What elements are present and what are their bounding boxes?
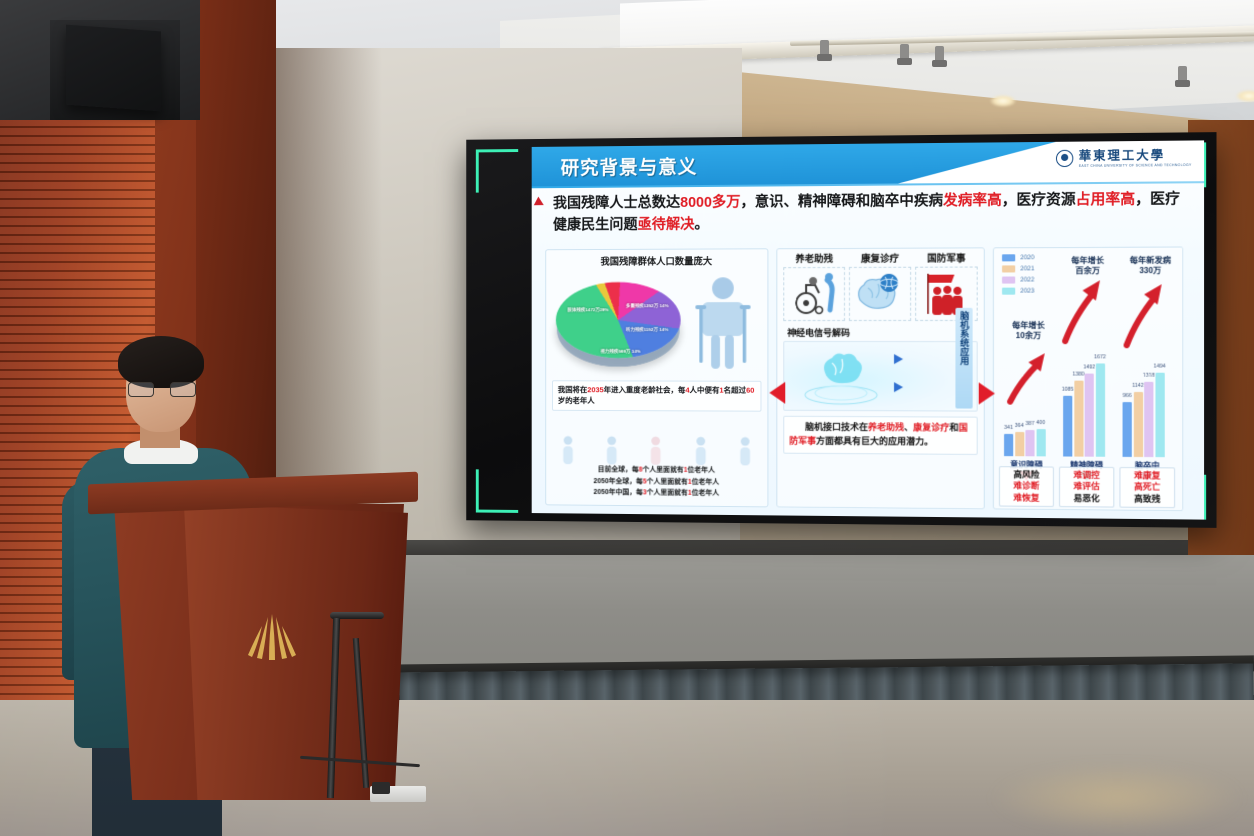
stat-a: 2050年中国，每 xyxy=(594,489,643,496)
bar-2023: 400 xyxy=(1036,429,1045,456)
concl-red-2: 康复诊疗 xyxy=(913,422,949,432)
university-name-en: EAST CHINA UNIVERSITY OF SCIENCE AND TEC… xyxy=(1079,164,1192,168)
pie-slice-label: 听力残疾1152万 14% xyxy=(626,327,673,333)
app-label-rehabilitation: 康复诊疗 xyxy=(849,251,911,265)
aging-text-a: 我国将在 xyxy=(558,385,587,394)
bar-group-mental: 1085 1380 1492 1672 xyxy=(1063,363,1104,456)
bar-2022: 1492 xyxy=(1085,374,1094,457)
recessed-downlight xyxy=(990,95,1016,107)
growth-arrow-icon xyxy=(1006,345,1047,406)
chart-legend: 2020 2021 2022 2023 xyxy=(1002,254,1034,299)
annotation-consciousness: 每年增长 10余万 xyxy=(1000,321,1057,342)
application-icons-row: 养老助残 xyxy=(777,248,983,321)
application-item: 养老助残 xyxy=(783,251,845,321)
legend-item: 2023 xyxy=(1002,288,1034,295)
bar-group-consciousness: 341 364 387 400 xyxy=(1004,429,1045,457)
neural-decoding-caption: 神经电信号解码 xyxy=(787,326,984,339)
glowing-brain-icon xyxy=(796,345,886,409)
concl-d: 方面都具有巨大的应用潜力。 xyxy=(816,436,933,447)
presentation-slide: 研究背景与意义 華東理工大學 EAST CHINA UNIVERSITY OF … xyxy=(532,140,1204,519)
podium xyxy=(88,478,418,800)
concl-red-1: 养老助残 xyxy=(868,422,904,432)
carpet-pattern xyxy=(980,760,1254,836)
legend-swatch-2022 xyxy=(1002,276,1015,283)
bar-2021: 1142 xyxy=(1133,392,1142,457)
stat-c: 位老年人 xyxy=(687,467,715,474)
slide-header: 研究背景与意义 華東理工大學 EAST CHINA UNIVERSITY OF … xyxy=(532,140,1204,186)
person-icon xyxy=(606,436,619,466)
aging-text-c: 人中便有 xyxy=(690,386,720,395)
university-name: 華東理工大學 EAST CHINA UNIVERSITY OF SCIENCE … xyxy=(1079,147,1192,169)
global-aging-stats: 目前全球，每8个人里面就有1位老年人 2050年全球，每5个人里面就有1位老年人… xyxy=(554,464,760,500)
pie-slice-label: 视力残疾569万 14% xyxy=(601,349,652,355)
presenter-glasses xyxy=(128,382,196,397)
risk-box-stroke: 难康复 高死亡 高致残 xyxy=(1119,467,1175,509)
panel-application-domains: 养老助残 xyxy=(776,247,984,509)
elderly-person-icon xyxy=(650,436,663,466)
bar-2021: 364 xyxy=(1015,432,1024,456)
risk-item: 高致残 xyxy=(1120,493,1174,505)
presenter-hair xyxy=(118,336,204,388)
track-light-head xyxy=(820,40,829,56)
bar-value: 1085 xyxy=(1062,387,1074,393)
risk-item: 难评估 xyxy=(1060,481,1113,493)
headline-red-2: 发病率高 xyxy=(943,193,1002,210)
stat-b: 个人里面就有 xyxy=(642,467,683,474)
bar-2021: 1380 xyxy=(1074,381,1083,457)
bar-value: 1380 xyxy=(1073,372,1085,378)
person-icon xyxy=(694,436,707,466)
bar-value: 341 xyxy=(1004,425,1013,431)
podium-fan-emblem-icon xyxy=(240,610,304,664)
pie-slice-label: 多重残疾1352万 14% xyxy=(626,303,673,309)
bar-value: 1494 xyxy=(1154,364,1166,370)
panel-left-caption: 我国残障群体人口数量庞大 xyxy=(546,249,767,268)
stat-a: 2050年全球，每 xyxy=(594,478,643,485)
legend-label-2022: 2022 xyxy=(1020,276,1034,283)
risk-item: 高风险 xyxy=(1000,469,1053,481)
person-with-crutches-icon xyxy=(692,275,753,373)
legend-item: 2021 xyxy=(1002,265,1034,272)
legend-label-2023: 2023 xyxy=(1020,288,1034,295)
panel-disease-statistics: 2020 2021 2022 2023 xyxy=(993,246,1183,511)
legend-item: 2020 xyxy=(1002,254,1034,261)
aging-text-e: 岁的老年人 xyxy=(558,396,595,405)
concl-c: 和 xyxy=(949,423,958,433)
bullet-arrow-icon xyxy=(534,197,546,210)
risk-box-consciousness: 高风险 难诊断 难恢复 xyxy=(999,466,1054,507)
risk-item: 难康复 xyxy=(1120,470,1174,482)
slide-title: 研究背景与意义 xyxy=(561,152,698,180)
app-label-eldercare: 养老助残 xyxy=(783,251,845,265)
bar-2020: 1085 xyxy=(1063,396,1072,457)
growth-arrow-icon xyxy=(1061,274,1102,345)
annotation-stroke: 每年新发病 330万 xyxy=(1118,256,1182,277)
corner-marker-top-left xyxy=(476,149,518,193)
legend-label-2020: 2020 xyxy=(1020,254,1034,261)
university-logo: 華東理工大學 EAST CHINA UNIVERSITY OF SCIENCE … xyxy=(1056,147,1191,169)
bar-group-stroke: 966 1142 1318 1494 xyxy=(1123,373,1165,458)
flow-arrow-right xyxy=(979,382,995,404)
flow-arrow-icon xyxy=(894,382,903,392)
person-icon xyxy=(562,435,575,465)
people-silhouettes xyxy=(546,424,767,467)
bar-2022: 1318 xyxy=(1144,382,1153,457)
aging-year: 2035 xyxy=(587,385,603,394)
bar-value: 1142 xyxy=(1132,383,1143,389)
stat-a: 目前全球，每 xyxy=(598,467,639,474)
headline-red-3: 占用率高 xyxy=(1076,192,1136,209)
ceiling-speaker xyxy=(66,25,161,112)
headline-text-5: 。 xyxy=(694,217,708,233)
bar-2020: 966 xyxy=(1123,402,1132,457)
track-light-head xyxy=(900,44,909,60)
legend-swatch-2020 xyxy=(1002,254,1015,261)
headline-text-3: ，医疗资源 xyxy=(1002,192,1076,209)
stat-c: 位老年人 xyxy=(692,479,720,486)
aging-text-b: 年进入重度老龄社会，每 xyxy=(604,385,686,394)
concl-a: 脑机接口技术在 xyxy=(805,422,868,432)
risk-item: 难调控 xyxy=(1060,469,1113,481)
bar-2023: 1494 xyxy=(1155,373,1164,457)
bar-value: 387 xyxy=(1026,421,1035,427)
pie-chart-area: 肢体残疾1472万29% 多重残疾1352万 14% 听力残疾1152万 14%… xyxy=(546,267,767,377)
growth-arrow-icon xyxy=(1123,278,1164,349)
risk-box-mental: 难调控 难评估 易恶化 xyxy=(1059,466,1114,507)
bar-value: 1318 xyxy=(1143,373,1155,379)
pie-chart xyxy=(556,282,681,358)
aging-text-d: 名超过 xyxy=(724,386,746,395)
slide-panels: 我国残障群体人口数量庞大 肢体残疾1472万29% 多重残疾1352万 14% … xyxy=(545,246,1193,511)
risk-item: 难恢复 xyxy=(1000,492,1053,504)
brain-globe-icon xyxy=(854,272,906,316)
application-item: 康复诊疗 xyxy=(849,251,911,321)
glasses-lens-left xyxy=(128,382,154,397)
panel-disability-population: 我国残障群体人口数量庞大 肢体残疾1472万29% 多重残疾1352万 14% … xyxy=(545,248,768,507)
slide-headline: 我国残障人士总数达8000多万，意识、精神障碍和脑卒中疾病发病率高，医疗资源占用… xyxy=(553,189,1183,236)
legend-swatch-2021 xyxy=(1002,265,1015,272)
bar-value: 364 xyxy=(1015,423,1024,429)
neural-signal-visual: 脑机系统应用 xyxy=(783,341,977,412)
flow-arrow-icon xyxy=(894,354,903,364)
risk-item: 高死亡 xyxy=(1120,481,1174,493)
conference-room-photo: 研究背景与意义 華東理工大學 EAST CHINA UNIVERSITY OF … xyxy=(0,0,1254,836)
risk-item: 易恶化 xyxy=(1060,492,1113,504)
bar-value: 400 xyxy=(1036,420,1045,426)
stat-line: 2050年中国，每3个人里面就有1位老年人 xyxy=(554,487,760,500)
track-light-head xyxy=(1178,66,1187,82)
pie-slice-label: 肢体残疾1472万29% xyxy=(568,307,619,313)
legend-label-2021: 2021 xyxy=(1020,265,1034,272)
bci-potential-conclusion: 脑机接口技术在养老助残、康复诊疗和国防军事方面都具有巨大的应用潜力。 xyxy=(783,416,977,455)
glasses-lens-right xyxy=(170,382,196,397)
bar-value: 966 xyxy=(1123,393,1132,399)
bar-2023: 1672 xyxy=(1095,363,1104,456)
risk-item: 难诊断 xyxy=(1000,480,1053,492)
headline-red-1: 8000多万 xyxy=(680,195,740,211)
flow-arrow-left xyxy=(769,382,785,404)
corner-marker-bottom-left xyxy=(476,469,518,513)
app-frame xyxy=(783,267,845,321)
projection-screen: 研究背景与意义 華東理工大學 EAST CHINA UNIVERSITY OF … xyxy=(466,132,1216,528)
stat-b: 个人里面就有 xyxy=(647,478,688,485)
legend-item: 2022 xyxy=(1002,276,1034,283)
app-label-defense: 国防军事 xyxy=(915,250,978,264)
headline-text-2: ，意识、精神障碍和脑卒中疾病 xyxy=(740,193,943,210)
app-frame xyxy=(849,267,911,321)
university-name-cn: 華東理工大學 xyxy=(1079,148,1165,163)
stat-c: 位老年人 xyxy=(692,490,720,497)
bci-system-banner: 脑机系统应用 xyxy=(955,308,972,409)
stat-b: 个人里面就有 xyxy=(647,490,688,497)
concl-b: 、 xyxy=(904,422,913,432)
bar-2022: 387 xyxy=(1025,430,1034,456)
bar-value: 1492 xyxy=(1083,364,1095,370)
bar-value: 1672 xyxy=(1094,354,1106,360)
track-light-head xyxy=(935,46,944,62)
aging-age-60: 60 xyxy=(746,386,754,395)
aging-society-note: 我国将在2035年进入重度老龄社会，每4人中便有1名超过60岁的老年人 xyxy=(552,380,761,411)
wheelchair-icon xyxy=(789,272,839,316)
legend-swatch-2023 xyxy=(1002,288,1015,295)
university-seal-icon xyxy=(1056,149,1073,166)
person-icon xyxy=(739,436,752,466)
headline-red-4: 亟待解决 xyxy=(638,217,695,233)
bci-banner-text: 脑机系统应用 xyxy=(959,311,969,365)
bar-2020: 341 xyxy=(1004,434,1013,456)
headline-text-1: 我国残障人士总数达 xyxy=(553,195,680,212)
floor-device xyxy=(372,782,390,794)
